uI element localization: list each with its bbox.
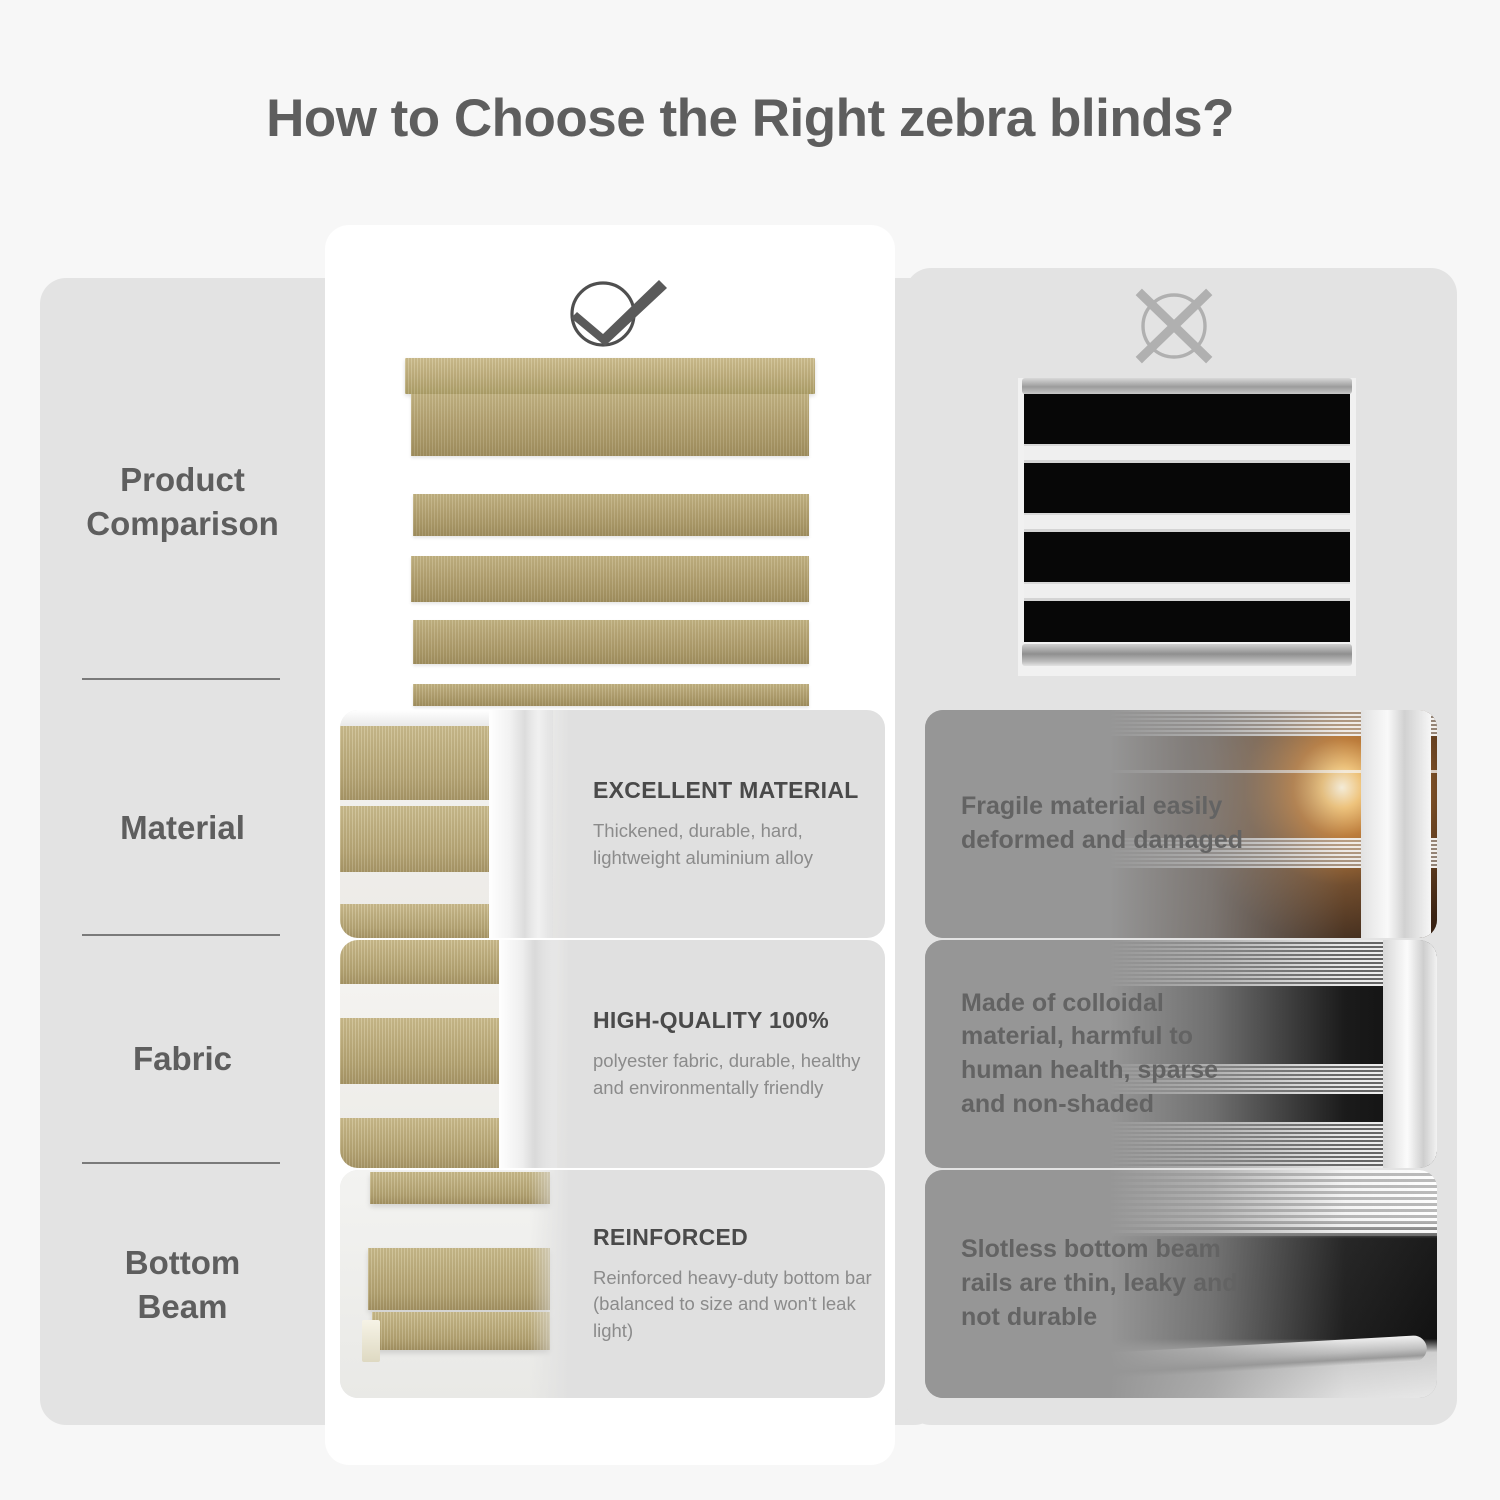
good-feature-text: HIGH-QUALITY 100% polyester fabric, dura…	[593, 940, 875, 1168]
blind-slat	[411, 394, 809, 456]
bad-blind-headrail	[1022, 378, 1352, 394]
good-feature-text: REINFORCED Reinforced heavy-duty bottom …	[593, 1170, 875, 1398]
blind-slat	[368, 1248, 550, 1310]
bottom-bar-end-cap	[362, 1320, 380, 1362]
bad-feature-row-fabric: Made of colloidal material, harmful to h…	[925, 940, 1437, 1168]
row-label-product-comparison: Product Comparison	[40, 458, 325, 545]
window-frame	[489, 710, 553, 938]
good-feature-title: EXCELLENT MATERIAL	[593, 777, 875, 804]
bad-blind-fabric	[1024, 394, 1350, 642]
row-label-line-2: Beam	[40, 1285, 325, 1329]
good-feature-desc: Thickened, durable, hard, lightweight al…	[593, 818, 875, 871]
row-divider-3	[82, 1162, 280, 1164]
gold-blind-window-frame-image	[340, 710, 575, 938]
blind-slat	[411, 556, 809, 602]
row-label-column: Product Comparison Material Fabric Botto…	[40, 278, 325, 1425]
bad-feature-row-bottom-beam: Slotless bottom beam rails are thin, lea…	[925, 1170, 1437, 1398]
good-feature-desc: polyester fabric, durable, healthy and e…	[593, 1048, 875, 1101]
good-feature-title: REINFORCED	[593, 1224, 875, 1251]
blind-slat	[413, 620, 809, 664]
gold-fabric-closeup-image	[340, 940, 575, 1168]
gold-bottom-beam-image	[340, 1170, 575, 1398]
cross-circle-icon	[1128, 285, 1220, 367]
good-feature-row-material: EXCELLENT MATERIAL Thickened, durable, h…	[340, 710, 885, 938]
row-label-line-1: Fabric	[40, 1037, 325, 1081]
window-frame	[499, 940, 557, 1168]
row-label-line-1: Material	[40, 806, 325, 850]
row-divider-2	[82, 934, 280, 936]
row-label-material: Material	[40, 806, 325, 850]
row-label-line-1: Bottom	[40, 1241, 325, 1285]
good-feature-row-fabric: HIGH-QUALITY 100% polyester fabric, dura…	[340, 940, 885, 1168]
blind-slat	[370, 1172, 550, 1204]
row-label-line-1: Product	[40, 458, 325, 502]
bad-feature-row-material: Fragile material easily deformed and dam…	[925, 710, 1437, 938]
row-label-fabric: Fabric	[40, 1037, 325, 1081]
row-label-bottom-beam: Bottom Beam	[40, 1241, 325, 1328]
bad-feature-text: Made of colloidal material, harmful to h…	[961, 940, 1261, 1168]
blind-bottom-bar	[413, 684, 809, 706]
blind-slat	[413, 494, 809, 536]
good-feature-title: HIGH-QUALITY 100%	[593, 1007, 875, 1034]
blind-headrail	[405, 358, 815, 394]
bad-feature-text: Slotless bottom beam rails are thin, lea…	[961, 1170, 1261, 1398]
blind-bottom-bar	[372, 1312, 550, 1350]
good-feature-text: EXCELLENT MATERIAL Thickened, durable, h…	[593, 710, 875, 938]
page-title: How to Choose the Right zebra blinds?	[0, 88, 1500, 149]
hero-image-good-blind	[405, 358, 815, 698]
row-divider-1	[82, 678, 280, 680]
check-circle-icon	[555, 268, 675, 350]
good-feature-desc: Reinforced heavy-duty bottom bar (balanc…	[593, 1265, 875, 1344]
bad-blind-bottom-rail	[1022, 644, 1352, 666]
good-feature-row-bottom-beam: REINFORCED Reinforced heavy-duty bottom …	[340, 1170, 885, 1398]
bad-feature-text: Fragile material easily deformed and dam…	[961, 710, 1261, 938]
hero-image-bad-blind	[1018, 378, 1356, 676]
row-label-line-2: Comparison	[40, 502, 325, 546]
